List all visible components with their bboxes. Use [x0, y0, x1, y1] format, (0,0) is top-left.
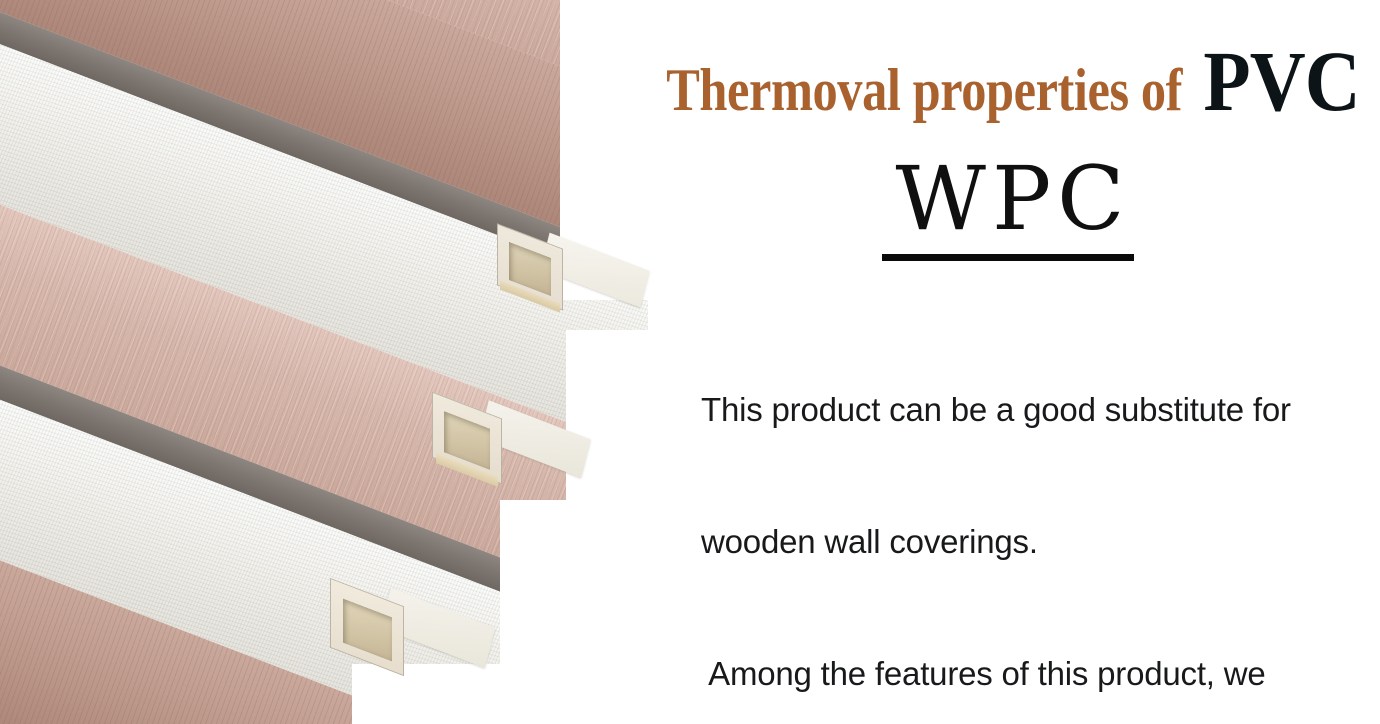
wpc-heading: WPC — [868, 150, 1148, 248]
wpc-underline — [882, 254, 1134, 261]
body-line: Among the features of this product, we — [701, 652, 1341, 696]
page-title: Thermoval properties of PVC — [0, 38, 1380, 110]
body-line: wooden wall coverings. — [701, 520, 1341, 564]
body-text: This product can be a good substitute fo… — [701, 300, 1341, 724]
body-line: This product can be a good substitute fo… — [701, 388, 1341, 432]
body-paragraph: This product can be a good substitute fo… — [701, 300, 1341, 724]
slide-root: Thermoval properties of PVC WPC This pro… — [0, 0, 1380, 724]
title-brown-text: Thermoval properties of — [667, 60, 1183, 120]
wpc-heading-block: WPC — [868, 150, 1148, 261]
title-black-text: PVC — [1204, 38, 1360, 124]
